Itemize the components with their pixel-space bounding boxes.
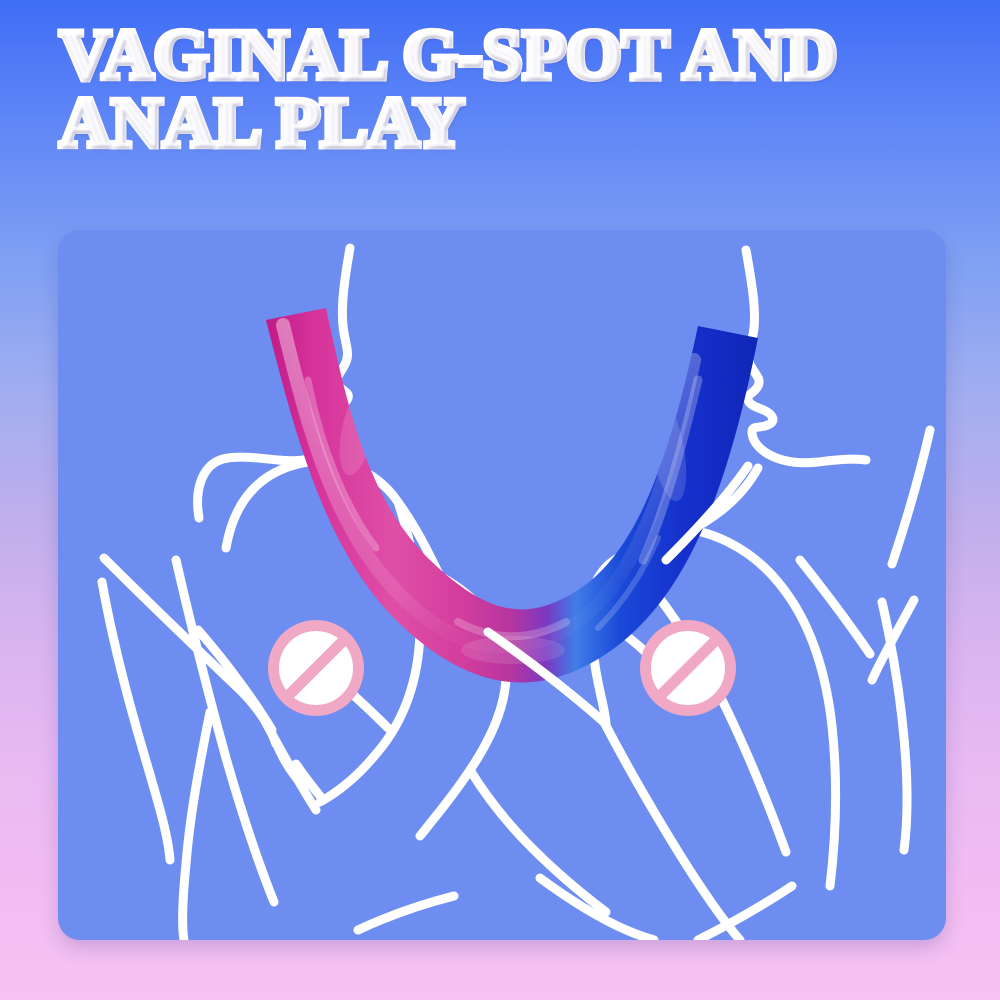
figures-line-art [58,230,946,940]
left-groin-line [258,708,316,810]
right-figure-head-profile [746,250,866,463]
product-banner-image: VAGINAL G-SPOT AND ANAL PLAY [0,0,1000,1000]
right-figure-leg-inner [604,722,740,940]
prohibition-sign-icon [285,637,347,699]
bottom-contour-right [698,886,792,940]
title-line-1: VAGINAL G-SPOT AND [60,22,960,90]
page-title: VAGINAL G-SPOT AND ANAL PLAY [60,22,960,158]
censor-badge-right [640,620,736,716]
right-far-arm [892,430,930,564]
censor-badge-left [268,620,364,716]
left-figure-lower-leg [470,770,606,912]
bottom-contour-left [358,896,454,930]
illustration-panel [58,230,946,940]
left-body-contour-outer [102,582,170,860]
left-hip-line [183,712,210,940]
title-line-2: ANAL PLAY [60,90,960,158]
prohibition-sign-icon [657,637,719,699]
